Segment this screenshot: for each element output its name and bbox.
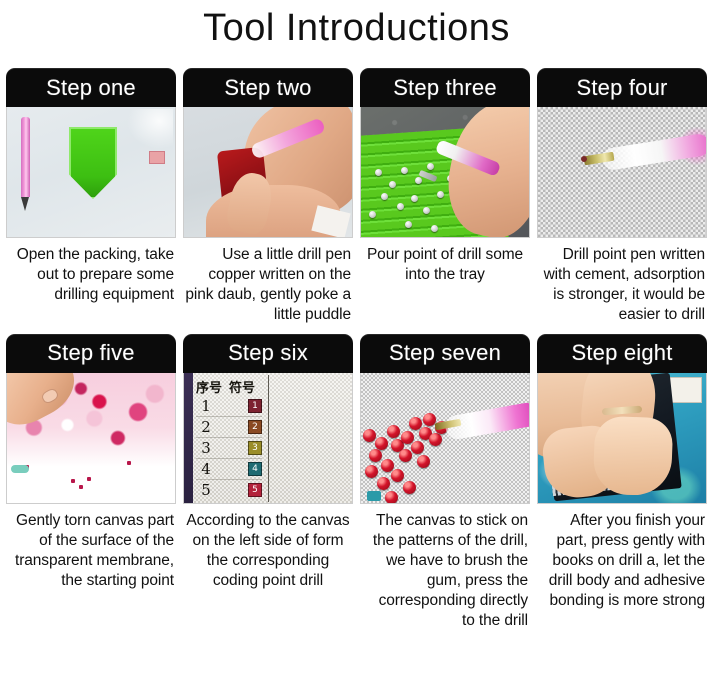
legend-row: 1 1: [196, 396, 262, 417]
legend-row-symbol: 3: [248, 441, 262, 455]
canvas-edge: [184, 373, 193, 503]
step-panel-six: Step six 序号 符号 1 1 2 2: [183, 334, 353, 632]
right-hand-shape: [593, 415, 674, 496]
legend-column-number: 序号: [196, 377, 222, 396]
red-drill-bead: [381, 459, 394, 472]
red-drill-bead: [385, 491, 398, 504]
step-five-caption: Gently torn canvas part of the surface o…: [6, 504, 176, 592]
drill-bead: [423, 207, 430, 214]
step-header-seven: Step seven: [360, 334, 530, 373]
legend-row-number: 2: [196, 418, 216, 436]
step-three-image: [360, 107, 530, 238]
step-header-three-label: Step three: [393, 77, 497, 99]
legend-row-symbol: 2: [248, 420, 262, 434]
step-one-image: [6, 107, 176, 238]
drill-bead: [375, 169, 382, 176]
step-header-eight: Step eight: [537, 334, 707, 373]
teal-accent: [367, 491, 381, 501]
legend-header-row: 序号 符号: [196, 377, 255, 396]
legend-row: 3 3: [196, 438, 262, 459]
step-three-caption: Pour point of drill some into the tray: [360, 238, 530, 285]
red-drill-bead: [369, 449, 382, 462]
legend-row: 4 4: [196, 459, 262, 480]
pen-tip-icon: [581, 156, 587, 162]
drill-bead: [437, 191, 444, 198]
drill-bead: [427, 163, 434, 170]
step-header-two: Step two: [183, 68, 353, 107]
steps-grid: Step one Open the packing, take out to p…: [6, 68, 707, 631]
red-drill-bead: [391, 469, 404, 482]
red-drill-bead: [401, 431, 414, 444]
legend-row-number: 4: [196, 460, 216, 478]
red-drill-bead: [375, 437, 388, 450]
step-panel-seven: Step seven: [360, 334, 530, 632]
step-six-caption: According to the canvas on the left side…: [183, 504, 353, 592]
red-drill-bead: [387, 425, 400, 438]
legend-column-symbol: 符号: [229, 377, 255, 396]
legend-divider: [268, 375, 269, 502]
step-header-four-label: Step four: [576, 77, 667, 99]
step-header-eight-label: Step eight: [571, 342, 672, 364]
drill-bead: [401, 167, 408, 174]
step-four-image: [537, 107, 707, 238]
pink-wax-square-icon: [149, 151, 165, 164]
highlight-glare: [127, 109, 173, 149]
red-drill-bead: [399, 449, 412, 462]
step-header-seven-label: Step seven: [389, 342, 501, 364]
legend-row: 5 5: [196, 480, 262, 501]
step-header-five: Step five: [6, 334, 176, 373]
pen-tip-icon: [21, 197, 29, 211]
step-seven-caption: The canvas to stick on the patterns of t…: [360, 504, 530, 632]
red-drill-bead: [417, 455, 430, 468]
legend-row-number: 1: [196, 397, 216, 415]
drill-bead: [389, 181, 396, 188]
pattern-speck: [71, 479, 75, 483]
pattern-speck: [127, 461, 131, 465]
red-drill-bead: [363, 429, 376, 442]
legend-row: 2 2: [196, 417, 262, 438]
teal-accent: [11, 465, 29, 473]
step-header-six-label: Step six: [228, 342, 308, 364]
drill-bead: [405, 221, 412, 228]
step-header-four: Step four: [537, 68, 707, 107]
red-drill-bead: [377, 477, 390, 490]
step-four-caption: Drill point pen written with cement, ads…: [537, 238, 707, 326]
drill-bead: [431, 225, 438, 232]
step-header-one-label: Step one: [46, 77, 136, 99]
step-eight-image: [537, 373, 707, 504]
step-eight-caption: After you finish your part, press gently…: [537, 504, 707, 612]
step-two-caption: Use a little drill pen copper written on…: [183, 238, 353, 326]
tool-introductions-infographic: Tool Introductions Step one Open the pac…: [0, 0, 713, 700]
step-five-image: [6, 373, 176, 504]
red-drill-bead: [409, 417, 422, 430]
step-seven-image: [360, 373, 530, 504]
drill-bead: [411, 195, 418, 202]
red-drill-bead: [365, 465, 378, 478]
step-one-caption: Open the packing, take out to prepare so…: [6, 238, 176, 305]
legend-row-symbol: 1: [248, 399, 262, 413]
step-two-image: [183, 107, 353, 238]
legend-row-number: 5: [196, 481, 216, 499]
step-six-image: 序号 符号 1 1 2 2 3 3: [183, 373, 353, 504]
step-header-three: Step three: [360, 68, 530, 107]
drill-bead: [381, 193, 388, 200]
step-panel-five: Step five Gently torn canvas part of the…: [6, 334, 176, 632]
drill-bead: [415, 177, 422, 184]
legend-row-number: 3: [196, 439, 216, 457]
legend-row-symbol: 4: [248, 462, 262, 476]
red-drill-bead: [429, 433, 442, 446]
drill-bead: [397, 203, 404, 210]
step-panel-three: Step three: [360, 68, 530, 326]
step-header-five-label: Step five: [47, 342, 134, 364]
red-drill-bead: [403, 481, 416, 494]
pattern-speck: [87, 477, 91, 481]
step-panel-four: Step four Drill point pen written with c…: [537, 68, 707, 326]
pink-pen-icon: [21, 117, 30, 197]
step-header-one: Step one: [6, 68, 176, 107]
step-header-two-label: Step two: [224, 77, 311, 99]
step-header-six: Step six: [183, 334, 353, 373]
page-title: Tool Introductions: [0, 0, 713, 53]
step-panel-two: Step two Use a little drill pen copper w…: [183, 68, 353, 326]
green-tray-icon: [69, 127, 117, 199]
step-panel-one: Step one Open the packing, take out to p…: [6, 68, 176, 326]
legend-row-symbol: 5: [248, 483, 262, 497]
pattern-speck: [79, 485, 83, 489]
red-drill-bead: [411, 441, 424, 454]
step-panel-eight: Step eight After you finish your part, p…: [537, 334, 707, 632]
legend-rows: 1 1 2 2 3 3 4 4: [196, 396, 262, 501]
drill-bead: [369, 211, 376, 218]
